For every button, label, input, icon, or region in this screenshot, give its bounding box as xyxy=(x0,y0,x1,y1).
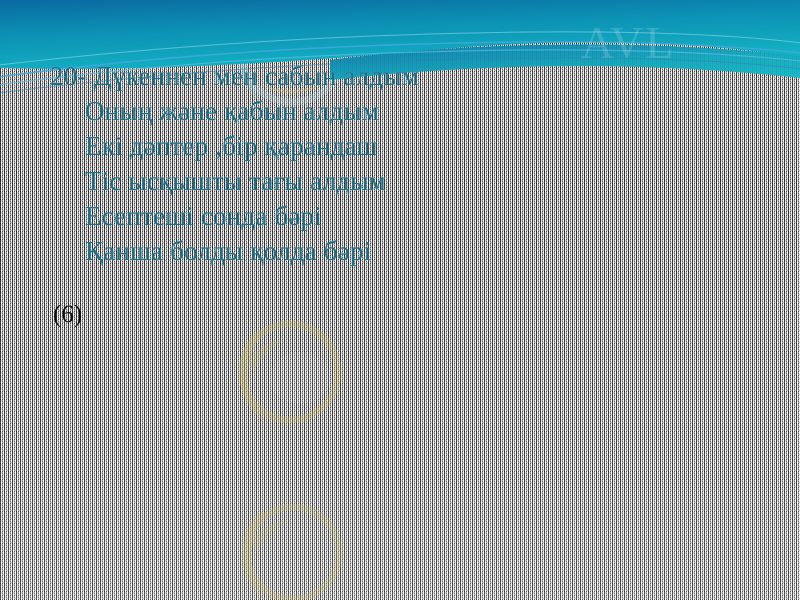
poem-line-2: Оның және қабын алдым xyxy=(85,94,379,129)
slide-canvas: AVL 20- Дүкеннен мен сабын алдым Оның жә… xyxy=(0,0,800,600)
poem-line-1: 20- Дүкеннен мен сабын алдым xyxy=(50,59,419,94)
svg-text:AVL: AVL xyxy=(581,17,676,68)
poem-line-4: Тіс ысқышты тағы алдым xyxy=(85,164,386,199)
poem-line-3: Екі дәптер ,бір қарандаш xyxy=(85,129,378,164)
poem-line-6: Қанша болды қолда бәрі xyxy=(85,234,371,269)
poem-line-5: Есептеші сонда бәрі xyxy=(85,199,322,234)
answer-count-note: (6) xyxy=(53,300,82,330)
